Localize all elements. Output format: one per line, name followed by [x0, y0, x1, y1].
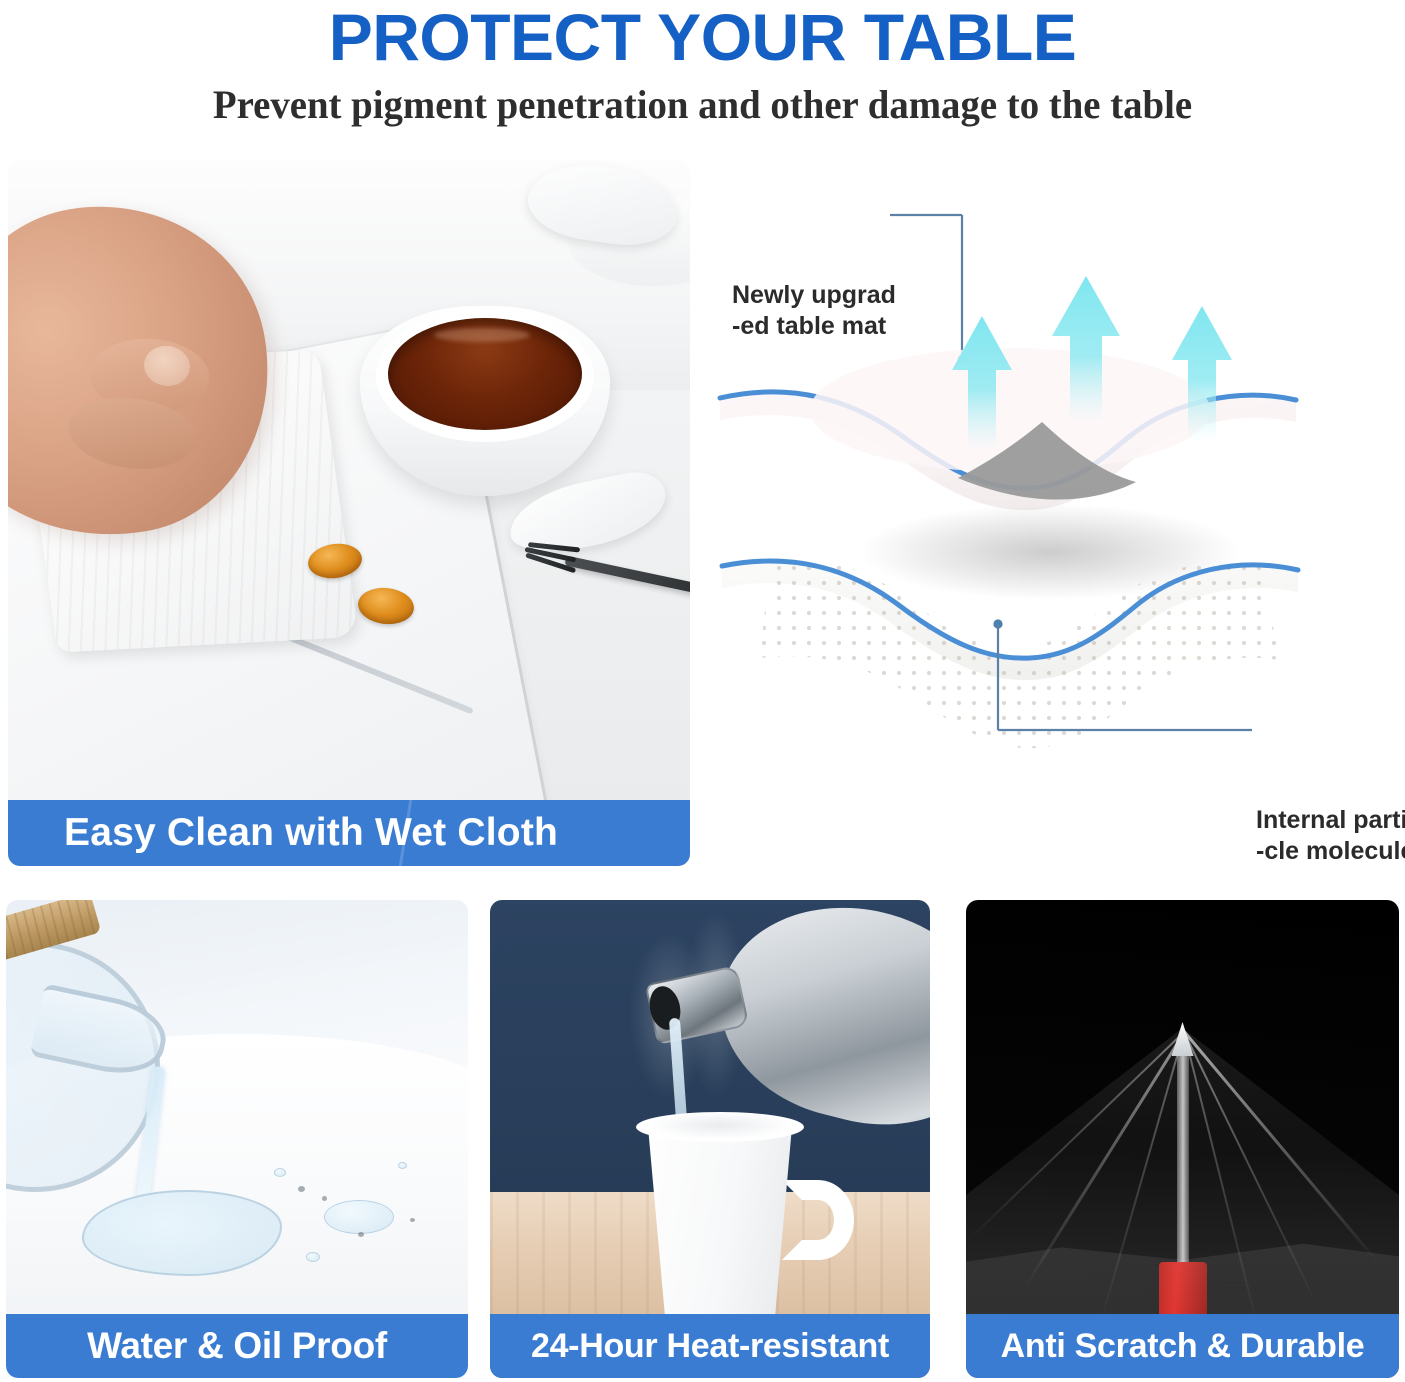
- panel-heat-resistant: 24-Hour Heat-resistant: [490, 900, 930, 1378]
- water-scene: [6, 900, 468, 1378]
- page-subtitle: Prevent pigment penetration and other da…: [21, 80, 1384, 130]
- spike-shaft: [1177, 1050, 1189, 1270]
- diagram-label-top: Newly upgrad -ed table mat: [732, 280, 896, 341]
- panel-caption-text: Water & Oil Proof: [87, 1325, 387, 1367]
- panel-caption-bar: Water & Oil Proof: [6, 1314, 468, 1378]
- diagram-label-bottom-line2: -cle molecule: [1256, 836, 1405, 867]
- panel-caption-text: Anti Scratch & Durable: [1001, 1327, 1365, 1366]
- film-scene: [966, 900, 1399, 1378]
- panel-anti-scratch: Anti Scratch & Durable: [966, 900, 1399, 1378]
- header: PROTECT YOUR TABLE Prevent pigment penet…: [0, 0, 1405, 130]
- mug-handle: [782, 1180, 854, 1260]
- leader-line-top: [890, 215, 962, 359]
- soy-sauce-liquid: [388, 318, 582, 430]
- water-bead: [274, 1168, 286, 1177]
- bottom-row: Water & Oil Proof 24-Hour Heat-resistant: [0, 900, 1405, 1382]
- panel-caption-bar: Anti Scratch & Durable: [966, 1314, 1399, 1378]
- photo-scene: [8, 160, 690, 860]
- speck: [298, 1186, 305, 1192]
- speck: [410, 1218, 415, 1222]
- fork-icon: [564, 556, 690, 595]
- mug-rim: [636, 1112, 804, 1142]
- diagram-label-bottom-line1: Internal parti: [1256, 805, 1405, 836]
- diagram-label-top-line2: -ed table mat: [732, 311, 896, 342]
- feature-photo-card: [8, 160, 690, 860]
- water-bead: [306, 1252, 320, 1262]
- panel-caption-text: 24-Hour Heat-resistant: [531, 1327, 889, 1366]
- kettle-scene: [490, 900, 930, 1378]
- speck: [358, 1232, 364, 1237]
- panel-caption-bar: 24-Hour Heat-resistant: [490, 1314, 930, 1378]
- diagram-label-bottom: Internal parti -cle molecule: [1256, 805, 1405, 866]
- feature-photo-caption: Easy Clean with Wet Cloth: [8, 811, 558, 855]
- panel-water-oil-proof: Water & Oil Proof: [6, 900, 468, 1378]
- diagram-svg: [700, 160, 1405, 866]
- diagram-label-top-line1: Newly upgrad: [732, 280, 896, 311]
- water-bead: [324, 1200, 394, 1234]
- water-bead: [398, 1162, 407, 1169]
- top-row: Easy Clean with Wet Cloth: [0, 160, 1405, 866]
- speck: [322, 1196, 327, 1201]
- page-title: PROTECT YOUR TABLE: [0, 4, 1405, 70]
- mat-structure-diagram: Newly upgrad -ed table mat Internal part…: [700, 160, 1405, 866]
- feature-photo-caption-bar: Easy Clean with Wet Cloth: [8, 800, 690, 866]
